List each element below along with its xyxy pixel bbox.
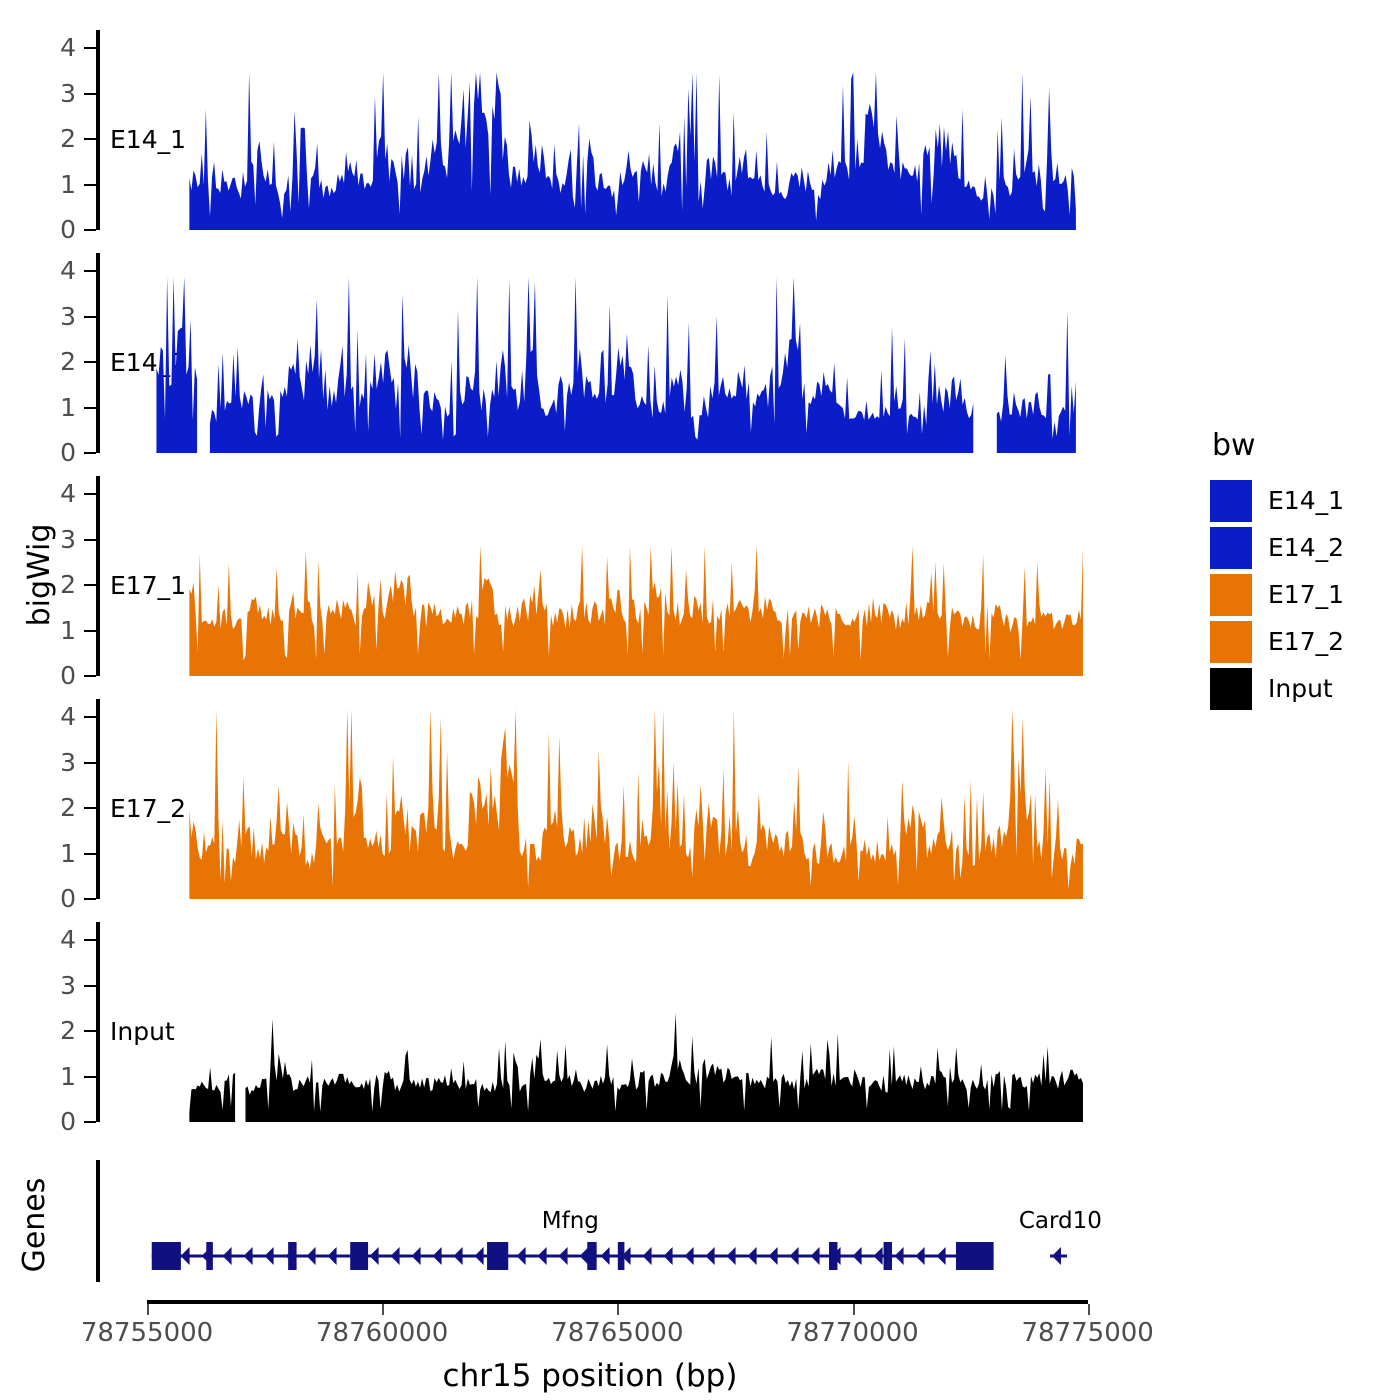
legend-title: bw — [1212, 428, 1395, 463]
gene-strand-arrow — [853, 1247, 862, 1265]
x-axis-tick — [147, 1304, 149, 1315]
coverage-area-e17_1 — [0, 476, 1180, 676]
gene-exon — [152, 1242, 181, 1270]
legend-label: E14_1 — [1268, 486, 1344, 515]
gene-strand-arrow — [391, 1247, 400, 1265]
gene-strand-arrow — [370, 1247, 379, 1265]
legend: bw E14_1E14_2E17_1E17_2Input — [1210, 428, 1395, 712]
gene-strand-arrow — [265, 1247, 274, 1265]
gene-strand-arrow — [790, 1247, 799, 1265]
gene-exon — [350, 1242, 368, 1270]
gene-strand-arrow — [706, 1247, 715, 1265]
gene-exon — [487, 1242, 508, 1270]
gene-strand-arrow — [1052, 1247, 1061, 1265]
genes-track-panel: MfngCard10 — [0, 1160, 1180, 1300]
legend-item-e14_2[interactable]: E14_2 — [1210, 524, 1395, 571]
gene-exon — [956, 1242, 994, 1270]
gene-strand-arrow — [517, 1247, 526, 1265]
gene-strand-arrow — [538, 1247, 547, 1265]
bigwig-panel-e17_1: 01234E17_1 — [0, 476, 1180, 676]
gene-exon — [618, 1242, 625, 1270]
gene-strand-arrow — [412, 1247, 421, 1265]
legend-swatch-icon — [1210, 574, 1252, 616]
gene-strand-arrow — [559, 1247, 568, 1265]
gene-strand-arrow — [433, 1247, 442, 1265]
gene-exon — [288, 1242, 296, 1270]
legend-item-e17_2[interactable]: E17_2 — [1210, 618, 1395, 665]
legend-label: Input — [1268, 674, 1333, 703]
gene-strand-arrow — [454, 1247, 463, 1265]
x-axis-tick — [382, 1304, 384, 1315]
legend-swatch-icon — [1210, 480, 1252, 522]
legend-items: E14_1E14_2E17_1E17_2Input — [1210, 477, 1395, 712]
x-axis-tick-label: 78755000 — [81, 1318, 213, 1348]
gene-label-card10: Card10 — [1019, 1208, 1102, 1234]
legend-label: E17_2 — [1268, 627, 1344, 656]
gene-label-mfng: Mfng — [542, 1208, 599, 1234]
x-axis-tick — [617, 1304, 619, 1315]
gene-exon — [884, 1242, 892, 1270]
coverage-area-e14_2 — [0, 253, 1180, 453]
gene-exon — [206, 1242, 213, 1270]
coverage-area-input — [0, 922, 1180, 1122]
legend-label: E17_1 — [1268, 580, 1344, 609]
legend-item-e17_1[interactable]: E17_1 — [1210, 571, 1395, 618]
gene-strand-arrow — [685, 1247, 694, 1265]
gene-strand-arrow — [937, 1247, 946, 1265]
gene-strand-arrow — [601, 1247, 610, 1265]
legend-swatch-icon — [1210, 621, 1252, 663]
bigwig-panel-e14_2: 01234E14_2 — [0, 253, 1180, 453]
bigwig-panel-e17_2: 01234E17_2 — [0, 699, 1180, 899]
legend-item-input[interactable]: Input — [1210, 665, 1395, 712]
gene-strand-arrow — [727, 1247, 736, 1265]
gene-strand-arrow — [916, 1247, 925, 1265]
x-axis-tick-label: 78765000 — [551, 1318, 683, 1348]
gene-strand-arrow — [181, 1247, 190, 1265]
gene-strand-arrow — [328, 1247, 337, 1265]
gene-strand-arrow — [748, 1247, 757, 1265]
legend-item-e14_1[interactable]: E14_1 — [1210, 477, 1395, 524]
x-axis-title: chr15 position (bp) — [0, 1358, 1180, 1394]
coverage-area-e17_2 — [0, 699, 1180, 899]
gene-exon — [587, 1242, 596, 1270]
gene-strand-arrow — [244, 1247, 253, 1265]
x-axis-tick — [1088, 1304, 1090, 1315]
gene-strand-arrow — [811, 1247, 820, 1265]
gene-exon — [829, 1242, 837, 1270]
x-axis-tick-label: 78775000 — [1021, 1318, 1153, 1348]
bigwig-panel-e14_1: 01234E14_1 — [0, 30, 1180, 230]
x-axis-tick-label: 78760000 — [316, 1318, 448, 1348]
gene-strand-arrow — [874, 1247, 883, 1265]
gene-strand-arrow — [895, 1247, 904, 1265]
coverage-area-e14_1 — [0, 30, 1180, 230]
bigwig-panel-input: 01234Input — [0, 922, 1180, 1122]
x-axis-tick-label: 78770000 — [786, 1318, 918, 1348]
gene-strand-arrow — [223, 1247, 232, 1265]
gene-strand-arrow — [475, 1247, 484, 1265]
legend-swatch-icon — [1210, 668, 1252, 710]
legend-label: E14_2 — [1268, 533, 1344, 562]
gene-strand-arrow — [643, 1247, 652, 1265]
gene-strand-arrow — [307, 1247, 316, 1265]
x-axis-tick — [853, 1304, 855, 1315]
legend-swatch-icon — [1210, 527, 1252, 569]
gene-strand-arrow — [769, 1247, 778, 1265]
gene-strand-arrow — [664, 1247, 673, 1265]
